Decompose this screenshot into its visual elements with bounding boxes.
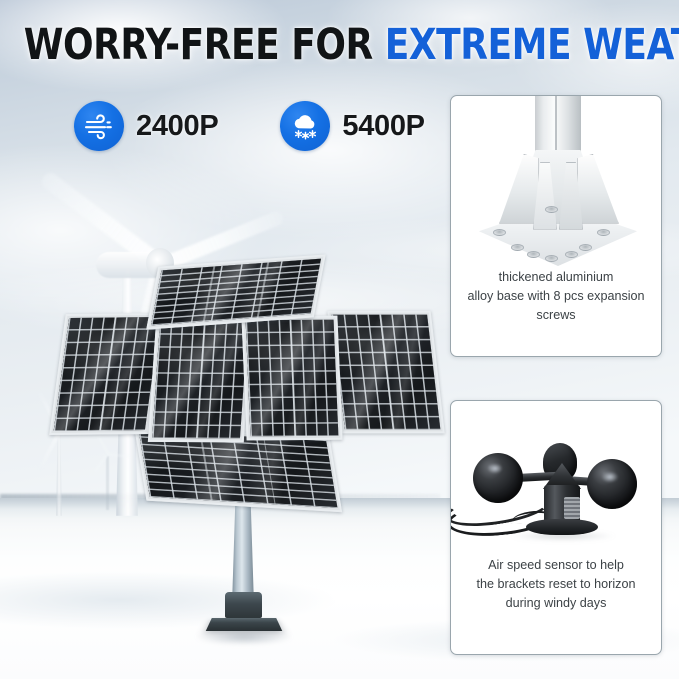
solar-cells [151, 259, 321, 326]
expansion-screw-hole [545, 255, 558, 262]
rating-badges: 2400P [74, 101, 425, 151]
base-shadow [196, 629, 292, 645]
solar-panel-middle-center-left [148, 318, 252, 443]
product-feature-graphic: WORRY-FREE FOR EXTREME WEATHER 2400P [0, 0, 679, 679]
caption-line: thickened aluminium [463, 268, 649, 287]
inset-panel-air-speed-sensor: Air speed sensor to help the brackets re… [450, 400, 662, 655]
aluminium-base-figure [451, 96, 661, 268]
anemometer-figure [451, 401, 661, 556]
sensor-mount-flange [526, 519, 598, 535]
expansion-screw-hole [493, 229, 506, 236]
aluminium-base-illustration [473, 95, 643, 270]
solar-panel-middle-left [49, 313, 165, 435]
anemometer-cup-left [473, 453, 523, 503]
cup-highlight [487, 463, 503, 474]
base-rib [577, 154, 619, 224]
anemometer-illustration [451, 405, 662, 555]
expansion-screw-hole [579, 244, 592, 251]
ground-base-plate [206, 618, 282, 631]
badge-snow-load-value: 5400P [342, 110, 424, 143]
sensor-thread [564, 497, 580, 519]
caption-line: during windy days [463, 594, 649, 613]
pole-collar [225, 592, 262, 618]
solar-panel-middle-right [327, 311, 445, 434]
caption-line: alloy base with 8 pcs expansion [463, 287, 649, 306]
expansion-screw-hole [597, 229, 610, 236]
expansion-screw-hole [565, 251, 578, 258]
headline-part-dark: WORRY-FREE FOR [24, 20, 373, 70]
anemometer-cup-right [587, 459, 637, 509]
solar-panel-middle-center-right [241, 316, 342, 441]
aluminium-base-caption: thickened aluminium alloy base with 8 pc… [451, 268, 661, 325]
caption-line: Air speed sensor to help [463, 556, 649, 575]
anemometer-caption: Air speed sensor to help the brackets re… [451, 556, 661, 613]
expansion-screw-hole [545, 206, 558, 213]
solar-panel-top [146, 254, 326, 329]
snow-cloud-icon [280, 101, 330, 151]
base-rib [499, 154, 539, 224]
cup-highlight [601, 471, 619, 483]
expansion-screw-hole [527, 251, 540, 258]
badge-wind-load: 2400P [74, 101, 218, 151]
headline: WORRY-FREE FOR EXTREME WEATHER [24, 22, 655, 68]
headline-part-highlight: EXTREME WEATHER [385, 20, 679, 70]
wind-icon [74, 101, 124, 151]
caption-line: screws [463, 306, 649, 325]
mounting-pole [232, 495, 254, 605]
badge-wind-load-value: 2400P [136, 110, 218, 143]
badge-snow-load: 5400P [280, 101, 424, 151]
expansion-screw-hole [511, 244, 524, 251]
inset-panel-aluminium-base: thickened aluminium alloy base with 8 pc… [450, 95, 662, 357]
caption-line: the brackets reset to horizon [463, 575, 649, 594]
